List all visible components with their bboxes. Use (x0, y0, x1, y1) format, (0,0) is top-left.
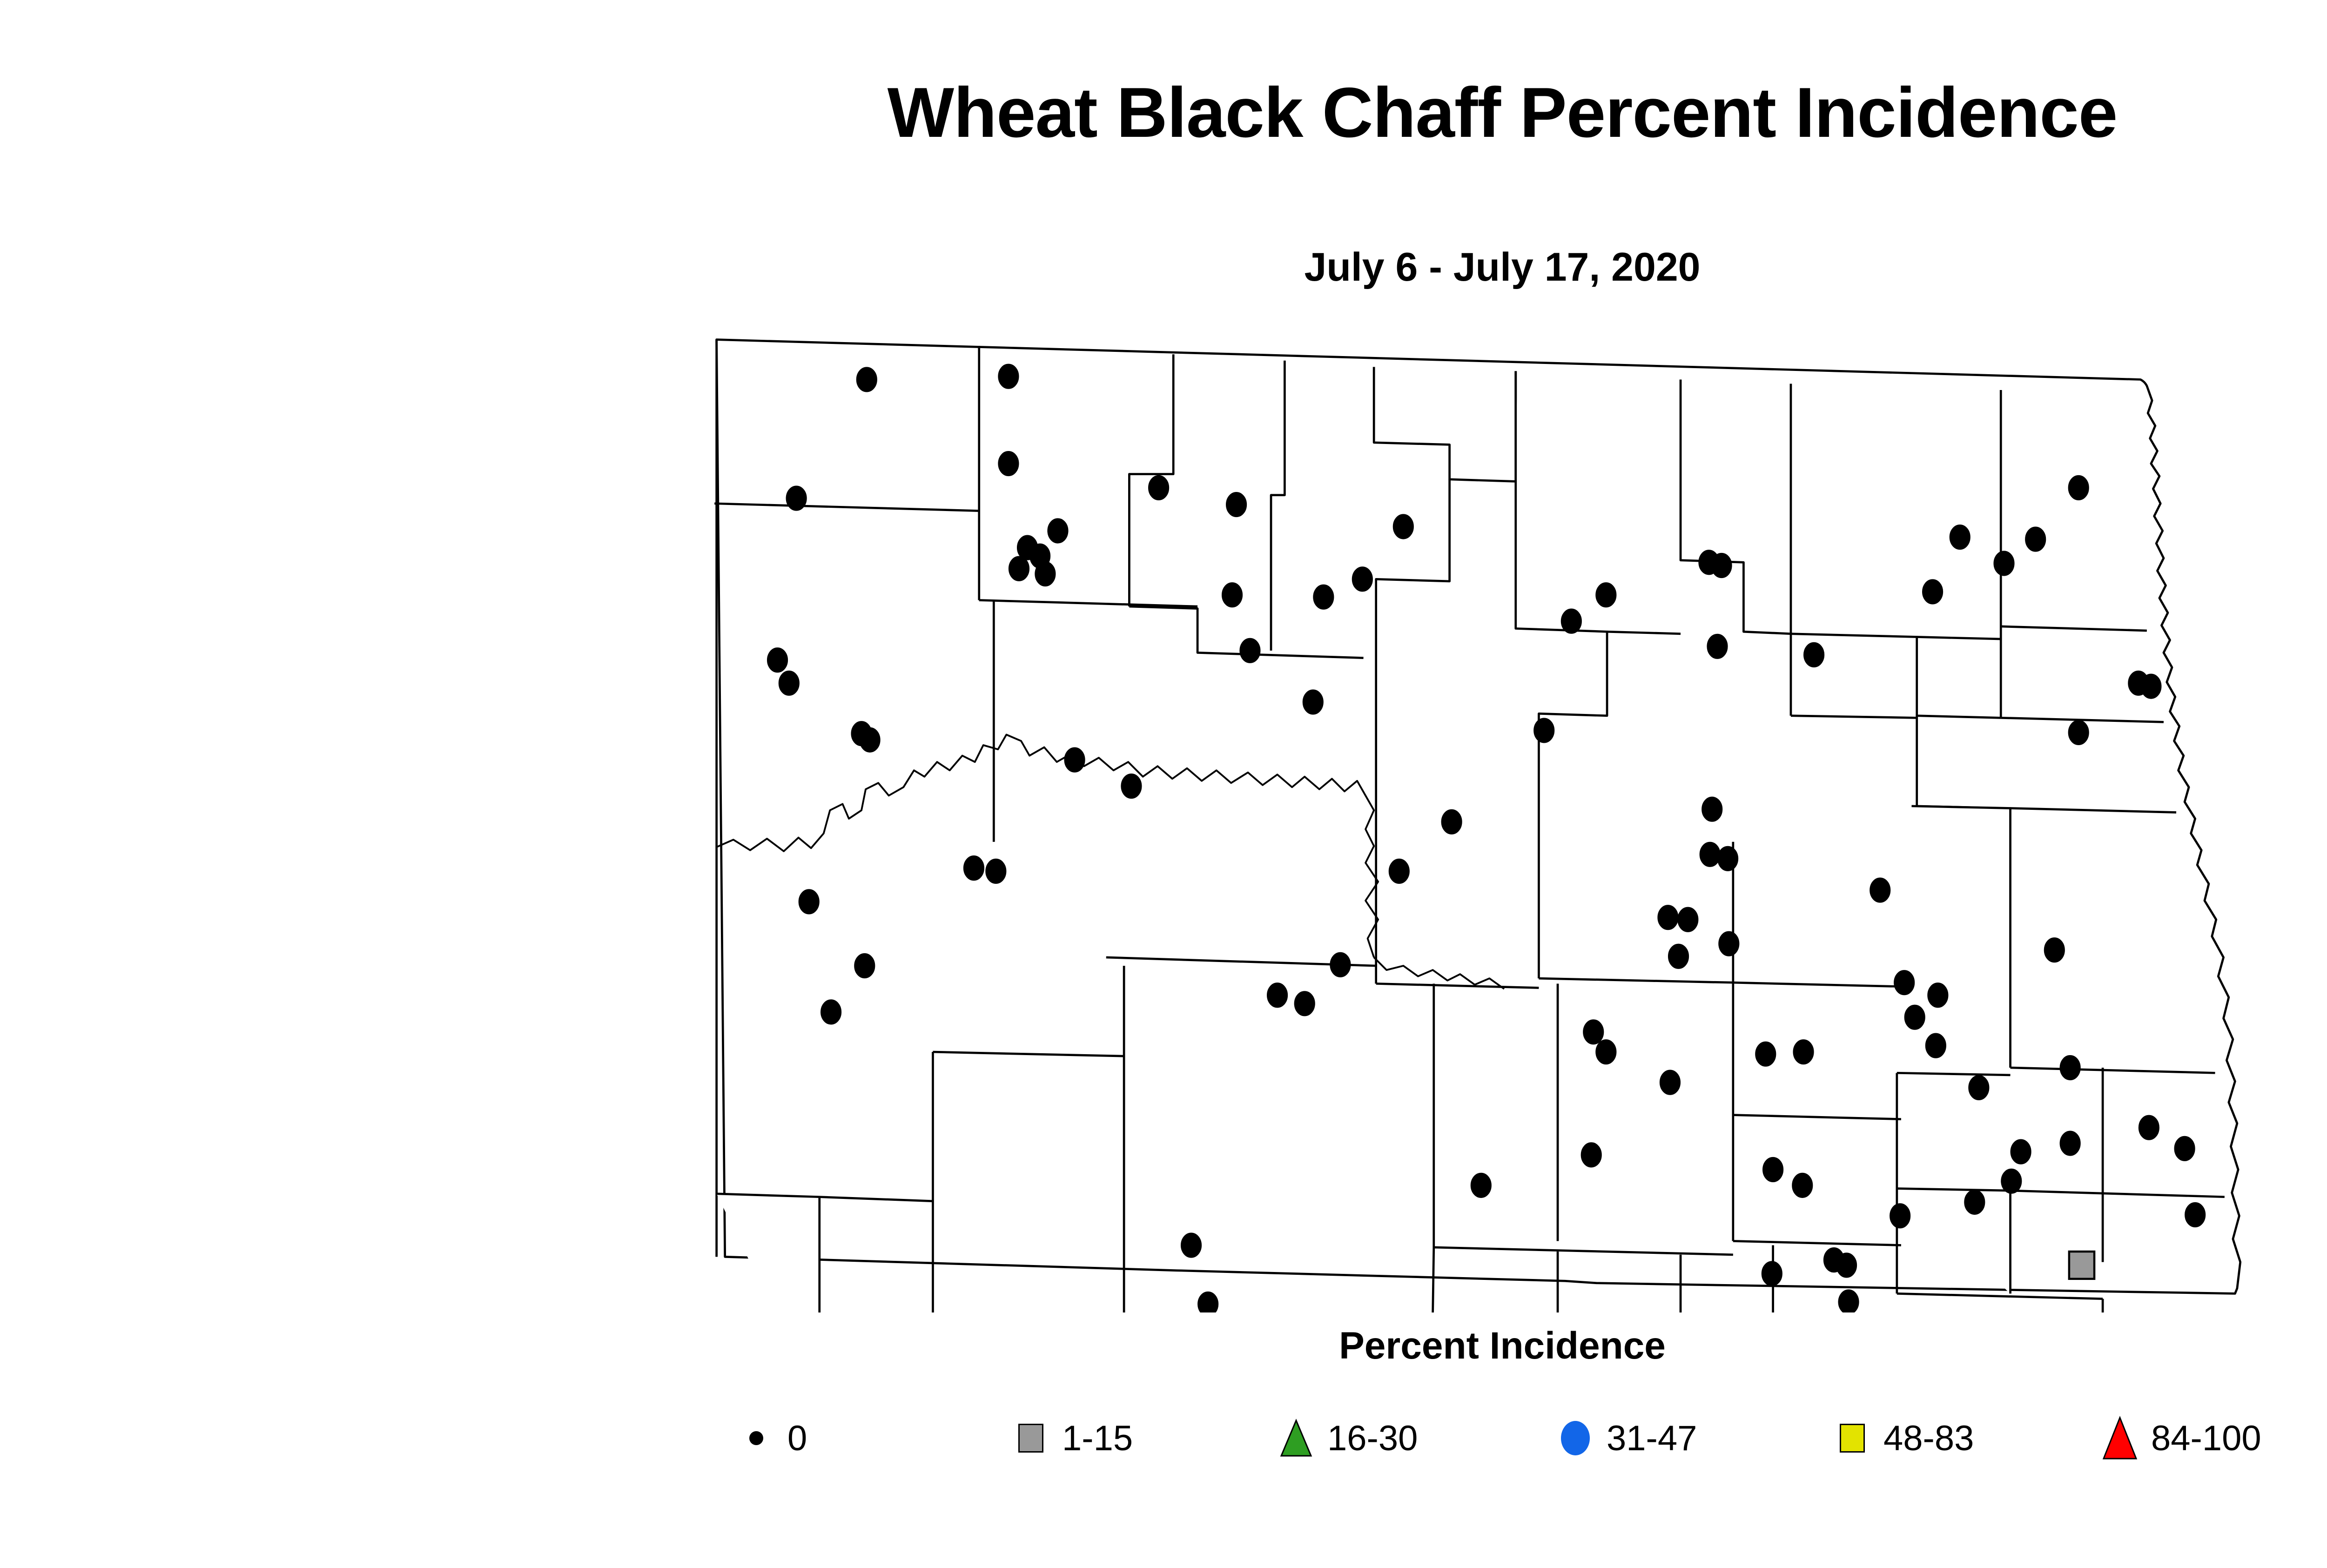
incidence-marker[interactable] (1581, 1143, 1601, 1167)
incidence-marker[interactable] (854, 954, 874, 978)
legend-swatch-red-triangle-icon (2099, 1417, 2141, 1459)
incidence-marker[interactable] (986, 859, 1006, 883)
legend-label-5: 84-100 (2151, 1418, 2261, 1459)
incidence-marker[interactable] (821, 1000, 841, 1024)
incidence-marker[interactable] (1794, 1040, 1814, 1064)
incidence-marker[interactable] (998, 451, 1018, 476)
incidence-marker[interactable] (1389, 859, 1409, 883)
incidence-marker[interactable] (1198, 1292, 1218, 1312)
legend-item-3[interactable]: 31-47 (1554, 1406, 1697, 1471)
black-dot-icon (749, 1431, 763, 1445)
page-title: Wheat Black Chaff Percent Incidence (0, 72, 2327, 154)
legend-item-4[interactable]: 48-83 (1831, 1406, 1974, 1471)
incidence-marker[interactable] (2069, 1252, 2094, 1279)
incidence-marker[interactable] (1870, 878, 1890, 902)
legend-label-1: 1-15 (1062, 1418, 1133, 1459)
incidence-marker[interactable] (2139, 1116, 2159, 1140)
incidence-marker[interactable] (767, 648, 787, 672)
yellow-square-icon (1840, 1424, 1865, 1453)
incidence-marker[interactable] (1836, 1253, 1856, 1277)
page-subtitle: July 6 - July 17, 2020 (0, 244, 2327, 290)
incidence-marker[interactable] (1719, 932, 1739, 956)
incidence-marker[interactable] (964, 856, 984, 880)
incidence-marker[interactable] (1561, 609, 1581, 633)
incidence-marker[interactable] (2060, 1056, 2080, 1080)
incidence-marker[interactable] (799, 889, 819, 914)
north-dakota-county-map[interactable] (693, 316, 2327, 1312)
incidence-marker[interactable] (1702, 797, 1722, 821)
legend-label-3: 31-47 (1607, 1418, 1697, 1459)
legend-item-1[interactable]: 1-15 (1010, 1406, 1133, 1471)
incidence-marker[interactable] (1712, 553, 1732, 578)
incidence-marker[interactable] (2141, 674, 2161, 699)
incidence-marker[interactable] (1048, 519, 1068, 543)
legend-swatch-dot-icon (735, 1417, 777, 1459)
incidence-marker[interactable] (1226, 492, 1246, 517)
map-figure-root: Wheat Black Chaff Percent Incidence July… (0, 0, 2327, 1568)
incidence-marker[interactable] (1009, 557, 1029, 581)
legend-swatch-yellow-square-icon (1831, 1417, 1873, 1459)
incidence-marker[interactable] (1303, 690, 1323, 714)
incidence-marker[interactable] (1149, 476, 1169, 500)
incidence-marker[interactable] (1583, 1020, 1603, 1044)
legend-swatch-gray-square-icon (1010, 1417, 1052, 1459)
incidence-marker[interactable] (1331, 953, 1351, 977)
incidence-marker[interactable] (1352, 567, 1372, 591)
legend-item-5[interactable]: 84-100 (2099, 1406, 2261, 1471)
legend-swatch-blue-circle-icon (1554, 1417, 1596, 1459)
incidence-marker[interactable] (2011, 1140, 2031, 1164)
legend-item-2[interactable]: 16-30 (1275, 1406, 1418, 1471)
green-triangle-icon (1279, 1419, 1313, 1458)
incidence-marker[interactable] (1678, 908, 1698, 932)
incidence-marker[interactable] (1035, 562, 1055, 586)
incidence-marker[interactable] (1442, 810, 1462, 834)
incidence-marker[interactable] (998, 364, 1018, 389)
incidence-marker[interactable] (2060, 1131, 2080, 1156)
incidence-marker[interactable] (2069, 720, 2089, 745)
incidence-marker[interactable] (2185, 1203, 2205, 1227)
incidence-marker[interactable] (1923, 579, 1943, 604)
incidence-marker[interactable] (1964, 1190, 1984, 1214)
legend: 0 1-15 16-30 31-47 4 (735, 1406, 2327, 1471)
incidence-marker[interactable] (1240, 639, 1260, 663)
incidence-marker[interactable] (1700, 842, 1720, 867)
legend-swatch-green-triangle-icon (1275, 1417, 1317, 1459)
incidence-marker[interactable] (1596, 1040, 1616, 1064)
incidence-marker[interactable] (1804, 643, 1824, 667)
incidence-marker[interactable] (1222, 583, 1242, 607)
incidence-marker[interactable] (1471, 1173, 1491, 1198)
incidence-marker[interactable] (1763, 1157, 1783, 1182)
incidence-marker[interactable] (1393, 515, 1413, 539)
incidence-marker[interactable] (2001, 1169, 2021, 1193)
incidence-marker[interactable] (1313, 585, 1333, 609)
incidence-marker[interactable] (2025, 527, 2045, 552)
incidence-marker[interactable] (1890, 1204, 1910, 1228)
incidence-marker[interactable] (1969, 1076, 1989, 1100)
cnty-div-58 (1897, 1293, 2103, 1299)
incidence-marker[interactable] (1894, 970, 1914, 995)
legend-label-4: 48-83 (1883, 1418, 1974, 1459)
incidence-marker[interactable] (1762, 1262, 1782, 1286)
incidence-marker[interactable] (1928, 983, 1948, 1007)
incidence-marker[interactable] (1718, 847, 1738, 871)
legend-title: Percent Incidence (0, 1324, 2327, 1368)
incidence-marker[interactable] (787, 486, 807, 511)
incidence-marker[interactable] (2175, 1137, 2195, 1161)
incidence-marker[interactable] (1121, 774, 1141, 798)
incidence-marker[interactable] (1755, 1042, 1776, 1066)
incidence-marker[interactable] (1596, 583, 1616, 607)
incidence-marker[interactable] (1181, 1233, 1201, 1258)
incidence-marker[interactable] (1994, 552, 2014, 576)
blue-circle-icon (1561, 1421, 1590, 1455)
incidence-marker[interactable] (1839, 1290, 1859, 1312)
incidence-marker[interactable] (1668, 944, 1688, 969)
incidence-marker[interactable] (2045, 938, 2065, 962)
incidence-marker[interactable] (1534, 718, 1554, 742)
incidence-marker[interactable] (1658, 905, 1678, 929)
incidence-marker[interactable] (1065, 748, 1085, 772)
red-triangle-icon (2102, 1416, 2138, 1460)
incidence-marker[interactable] (1267, 983, 1287, 1007)
incidence-marker[interactable] (1950, 525, 1970, 549)
gray-square-icon (1018, 1424, 1043, 1453)
incidence-marker[interactable] (1708, 634, 1728, 659)
county-boundaries (714, 340, 2240, 1312)
incidence-marker[interactable] (1792, 1173, 1812, 1198)
incidence-marker[interactable] (2069, 476, 2089, 500)
incidence-marker[interactable] (779, 671, 799, 695)
map-svg (693, 316, 2327, 1312)
incidence-marker[interactable] (860, 728, 880, 752)
incidence-marker[interactable] (857, 367, 877, 391)
incidence-marker[interactable] (1660, 1070, 1680, 1095)
incidence-marker[interactable] (1295, 991, 1315, 1016)
legend-label-0: 0 (787, 1418, 807, 1459)
incidence-marker[interactable] (1926, 1034, 1946, 1058)
legend-label-2: 16-30 (1327, 1418, 1418, 1459)
legend-item-0[interactable]: 0 (735, 1406, 807, 1471)
incidence-marker[interactable] (1905, 1005, 1925, 1030)
